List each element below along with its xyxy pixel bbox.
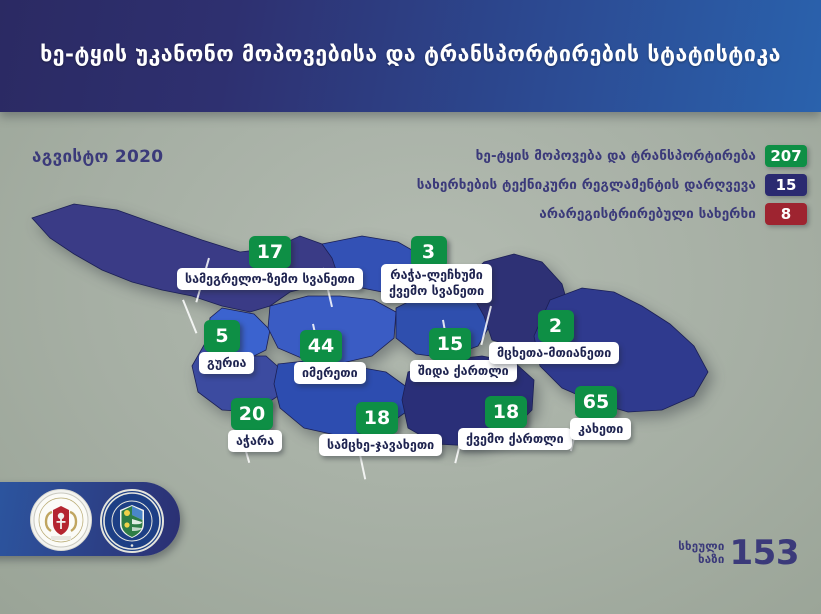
marker-value: 44 [300,330,342,362]
map-marker-racha[interactable]: 3 რაჭა-ლეჩხუმიქვემო სვანეთი [381,236,492,303]
legend-item-badge: 15 [765,174,807,196]
georgia-coat-of-arms-icon [30,489,92,551]
marker-label: სამეგრელო-ზემო სვანეთი [177,268,363,290]
marker-value: 5 [204,320,240,352]
legend-item-label: ხე-ტყის მოპოვება და ტრანსპორტირება [476,148,756,164]
legend-item-label: სახერხების ტექნიკური რეგლამენტის დარღვევ… [417,177,756,193]
coat-of-arms-svg [31,490,91,550]
map-marker-kakheti[interactable]: 65 კახეთი [570,386,631,440]
legend-item: ხე-ტყის მოპოვება და ტრანსპორტირება 207 [387,143,807,168]
map-marker-imereti[interactable]: 44 იმერეთი [294,330,366,384]
total-label: სხეული ხაზი [678,540,724,566]
map-marker-guria[interactable]: 5 გურია [199,320,254,374]
map-marker-kvemo-kartli[interactable]: 18 ქვემო ქართლი [458,396,572,450]
marker-label: გურია [199,352,254,374]
marker-label: სამცხე-ჯავახეთი [319,434,442,456]
legend-item-badge: 8 [765,203,807,225]
map-marker-samegrelo[interactable]: 17 სამეგრელო-ზემო სვანეთი [177,236,363,290]
marker-label: ქვემო ქართლი [458,428,572,450]
marker-value: 18 [485,396,527,428]
agency-emblem-icon [100,489,164,553]
marker-value: 17 [249,236,291,268]
header-banner: ხე-ტყის უკანონო მოპოვებისა და ტრანსპორტი… [0,0,821,112]
date-label: აგვისტო 2020 [32,147,163,167]
legend-item-badge: 207 [765,145,807,167]
logo-panel [0,482,180,556]
map-marker-samtskhe[interactable]: 18 სამცხე-ჯავახეთი [319,402,442,456]
legend-item: სახერხების ტექნიკური რეგლამენტის დარღვევ… [387,172,807,197]
infographic-page: ხე-ტყის უკანონო მოპოვებისა და ტრანსპორტი… [0,0,821,614]
marker-value: 2 [538,310,574,342]
agency-emblem-svg [102,491,162,551]
marker-label-text: რაჭა-ლეჩხუმიქვემო სვანეთი [389,267,484,298]
map-marker-adjara[interactable]: 20 აჭარა [228,398,282,452]
marker-label: იმერეთი [294,362,366,384]
marker-value: 15 [429,328,471,360]
marker-value: 65 [575,386,617,418]
total-summary: სხეული ხაზი 153 [678,536,799,570]
total-value: 153 [730,536,799,570]
marker-label: აჭარა [228,430,282,452]
marker-value: 20 [231,398,273,430]
marker-label: კახეთი [570,418,631,440]
marker-label: რაჭა-ლეჩხუმიქვემო სვანეთი [381,264,492,303]
marker-value: 18 [356,402,398,434]
marker-label: მცხეთა-მთიანეთი [489,342,619,364]
page-title: ხე-ტყის უკანონო მოპოვებისა და ტრანსპორტი… [0,42,821,67]
total-label-line2: ხაზი [678,553,724,566]
map-marker-mtskheta[interactable]: 2 მცხეთა-მთიანეთი [489,310,622,364]
